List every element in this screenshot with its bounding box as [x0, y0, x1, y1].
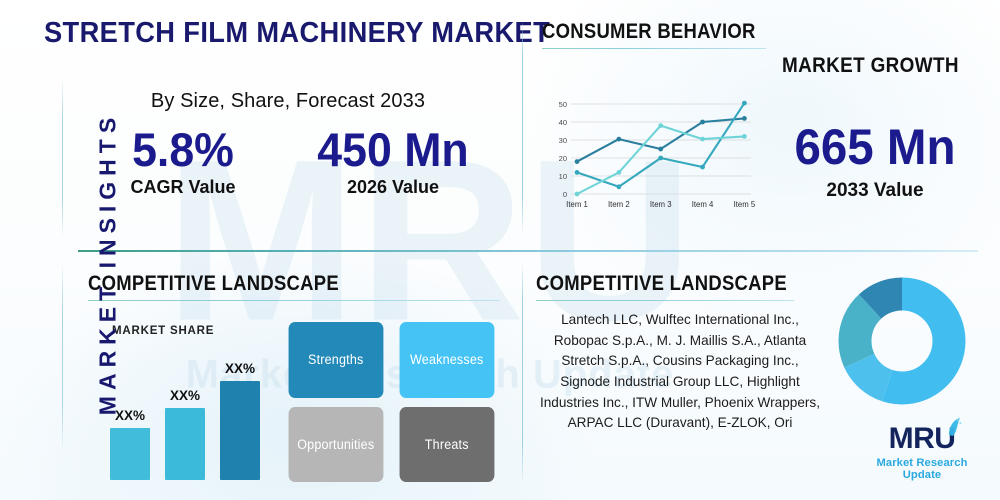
divider-horizontal	[78, 250, 978, 252]
x-axis-tick: Item 1	[566, 200, 588, 209]
market-growth-value: 665 Mn	[766, 118, 985, 176]
section-heading-competitive-right: COMPETITIVE LANDSCAPE	[536, 272, 787, 296]
data-point	[742, 101, 747, 106]
logo-mark: MRU	[889, 424, 956, 454]
bar-value-label: XX%	[225, 361, 255, 376]
swot-grid: StrengthsWeaknessesOpportunitiesThreats	[285, 322, 497, 482]
y-axis-tick: 40	[559, 118, 567, 127]
market-share-title: MARKET SHARE	[112, 325, 214, 337]
company-list: Lantech LLC, Wulftec International Inc.,…	[535, 310, 825, 434]
x-axis-tick: Item 2	[608, 200, 630, 209]
divider-left-top	[62, 78, 63, 238]
data-point	[700, 165, 705, 170]
kpi-2026: 450 Mn 2026 Value	[288, 126, 498, 198]
page-title: STRETCH FILM MACHINERY MARKET	[44, 18, 476, 50]
data-point	[575, 192, 580, 197]
side-label-market-insights: MARKET INSIGHTS	[95, 84, 122, 444]
data-point	[658, 156, 663, 161]
x-axis-tick: Item 5	[734, 200, 755, 209]
data-point	[575, 170, 580, 175]
x-axis-tick: Item 3	[650, 200, 672, 209]
section-rule-consumer-behavior	[542, 48, 766, 49]
line-series-2	[577, 103, 744, 187]
kpi-row: 5.8% CAGR Value 450 Mn 2026 Value	[78, 126, 498, 198]
swot-cell-strengths[interactable]: Strengths	[289, 322, 383, 398]
swot-cell-opportunities[interactable]: Opportunities	[289, 407, 383, 483]
market-share-bar-chart: XX%XX%XX%	[105, 345, 270, 480]
x-axis-tick: Item 4	[692, 200, 714, 209]
logo-swoosh-icon	[947, 417, 962, 437]
bar-rect	[220, 381, 260, 480]
y-axis-tick: 10	[559, 172, 567, 181]
data-point	[700, 120, 705, 125]
data-point	[658, 123, 663, 128]
market-growth-label: 2033 Value	[760, 180, 990, 202]
divider-left-bottom	[62, 262, 63, 452]
y-axis-tick: 30	[559, 136, 567, 145]
y-axis-tick: 20	[559, 154, 567, 163]
donut-chart-svg	[838, 277, 966, 405]
divider-middle-top	[522, 18, 523, 236]
logo-mark-text: MRU	[889, 422, 956, 455]
section-heading-competitive-left: COMPETITIVE LANDSCAPE	[88, 272, 339, 296]
divider-middle-bottom	[522, 262, 523, 484]
data-point	[616, 137, 621, 142]
consumer-behavior-line-chart: 01020304050Item 1Item 2Item 3Item 4Item …	[545, 96, 755, 216]
bar-rect	[165, 408, 205, 480]
market-share-bar-2: XX%	[165, 388, 205, 480]
logo-tagline: Market Research Update	[856, 457, 988, 481]
data-point	[742, 116, 747, 121]
kpi-2026-label: 2026 Value	[288, 177, 498, 198]
section-rule-competitive-right	[536, 300, 794, 301]
y-axis-tick: 0	[563, 190, 567, 199]
y-axis-tick: 50	[559, 100, 567, 109]
data-point	[658, 147, 663, 152]
data-point	[575, 159, 580, 164]
kpi-2026-value: 450 Mn	[293, 126, 493, 174]
data-point	[742, 134, 747, 139]
swot-cell-weaknesses[interactable]: Weaknesses	[399, 322, 493, 398]
data-point	[700, 137, 705, 142]
line-chart-svg: 01020304050Item 1Item 2Item 3Item 4Item …	[545, 96, 755, 216]
donut-chart	[838, 277, 966, 410]
data-point	[616, 170, 621, 175]
bar-value-label: XX%	[170, 388, 200, 403]
logo: MRU Market Research Update	[856, 424, 988, 481]
page-subtitle: By Size, Share, Forecast 2033	[78, 90, 498, 113]
swot-cell-threats[interactable]: Threats	[399, 407, 493, 483]
market-share-bar-3: XX%	[220, 361, 260, 480]
section-rule-competitive-left	[88, 300, 500, 301]
section-heading-consumer-behavior: CONSUMER BEHAVIOR	[542, 20, 756, 44]
infographic-root: MRU Market Research Update MARKET INSIGH…	[0, 0, 1000, 500]
data-point	[616, 184, 621, 189]
section-heading-market-growth: MARKET GROWTH	[782, 54, 959, 78]
